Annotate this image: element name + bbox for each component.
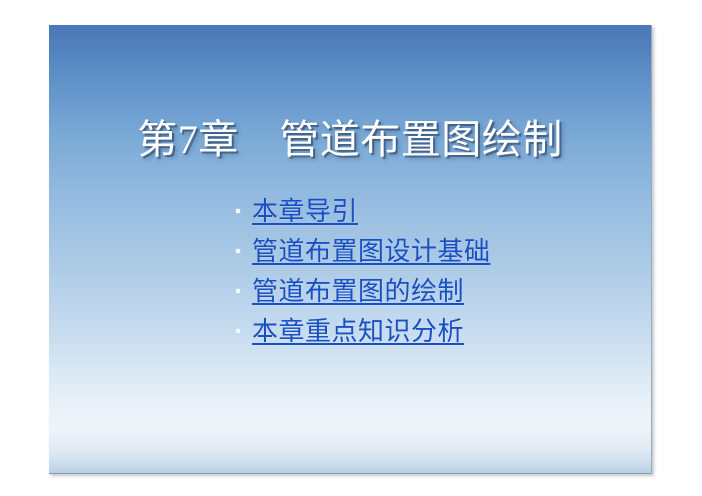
title-block: 第7章 管道布置图绘制 (49, 119, 651, 161)
chapter-link-0[interactable]: 本章导引 (252, 197, 358, 227)
bullet-square-icon (236, 329, 240, 333)
list-item[interactable]: 本章导引 (234, 197, 634, 237)
list-item[interactable]: 管道布置图设计基础 (234, 237, 634, 277)
presentation-slide: 第7章 管道布置图绘制 本章导引 管道布置图设计基础 管道布置图的绘制 本章重点… (49, 25, 652, 474)
chapter-link-3[interactable]: 本章重点知识分析 (252, 317, 464, 347)
chapter-link-1[interactable]: 管道布置图设计基础 (252, 237, 491, 267)
bullet-square-icon (236, 209, 240, 213)
list-item[interactable]: 管道布置图的绘制 (234, 277, 634, 317)
bullet-square-icon (236, 249, 240, 253)
chapter-link-2[interactable]: 管道布置图的绘制 (252, 277, 464, 307)
bullet-square-icon (236, 289, 240, 293)
link-list: 本章导引 管道布置图设计基础 管道布置图的绘制 本章重点知识分析 (234, 197, 634, 357)
slide-canvas: 第7章 管道布置图绘制 本章导引 管道布置图设计基础 管道布置图的绘制 本章重点… (0, 0, 702, 496)
page-title: 第7章 管道布置图绘制 (137, 119, 563, 161)
list-item[interactable]: 本章重点知识分析 (234, 317, 634, 357)
